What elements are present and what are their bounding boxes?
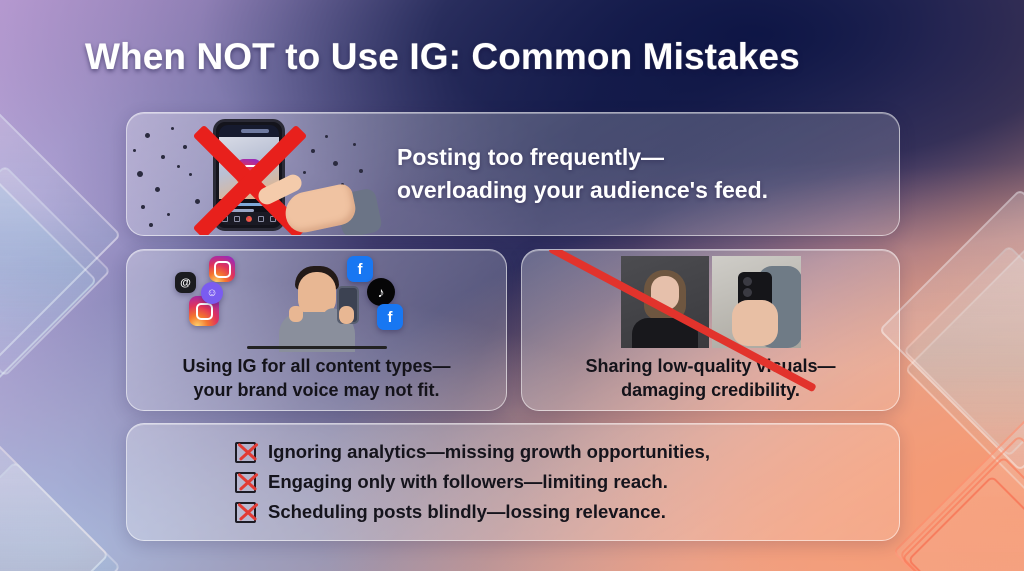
list-item-label: Ignoring analytics—missing growth opport…: [268, 441, 710, 463]
phone-red-x-illustration: [127, 113, 389, 235]
mistake-text-low-quality-visuals: Sharing low-quality visuals— damaging cr…: [522, 351, 899, 410]
facebook-icon-1: f: [347, 256, 373, 282]
red-x-checkbox-icon: [235, 502, 256, 523]
mistake-card-posting-frequency: Posting too frequently— overloading your…: [126, 112, 900, 236]
ground-line: [247, 346, 387, 349]
pointing-hand-icon: [255, 175, 373, 236]
list-item: Engaging only with followers—limiting re…: [235, 471, 899, 493]
red-x-checkbox-icon: [235, 442, 256, 463]
list-item-label: Engaging only with followers—limiting re…: [268, 471, 668, 493]
slide-title: When NOT to Use IG: Common Mistakes: [85, 36, 800, 78]
instagram-icon-1: [209, 256, 235, 282]
photo-person-phone-blurry: [712, 256, 801, 348]
low-quality-photos-illustration: [522, 250, 899, 351]
list-item: Scheduling posts blindly—lossing relevan…: [235, 501, 899, 523]
worried-man-illustration: @ ☺ f ♪ f: [127, 250, 506, 351]
mistake-text-content-types: Using IG for all content types— your bra…: [127, 351, 506, 410]
list-item: Ignoring analytics—missing growth opport…: [235, 441, 899, 463]
messenger-icon: ☺: [201, 282, 223, 304]
mistake-text-posting-frequency: Posting too frequently— overloading your…: [389, 141, 899, 206]
mistake-checklist: Ignoring analytics—missing growth opport…: [127, 424, 899, 540]
mistake-text-line-1: Posting too frequently—: [397, 141, 879, 174]
man-hand-holding-phone: [339, 306, 354, 324]
mistake-card-checklist: Ignoring analytics—missing growth opport…: [126, 423, 900, 541]
list-item-label: Scheduling posts blindly—lossing relevan…: [268, 501, 666, 523]
mistake-card-low-quality-visuals: Sharing low-quality visuals— damaging cr…: [521, 249, 900, 411]
mistake-text-line-2: overloading your audience's feed.: [397, 174, 879, 207]
man-hand-on-cheek: [289, 306, 303, 322]
mistake-text-line-2: your brand voice may not fit.: [182, 379, 450, 402]
photo-woman-blurry: [621, 256, 710, 348]
tiktok-icon: ♪: [367, 278, 395, 306]
mistake-text-line-1: Using IG for all content types—: [182, 355, 450, 378]
red-x-checkbox-icon: [235, 472, 256, 493]
mistake-card-content-types: @ ☺ f ♪ f Using IG for all content types…: [126, 249, 507, 411]
threads-icon: @: [175, 272, 196, 293]
facebook-icon-2: f: [377, 304, 403, 330]
